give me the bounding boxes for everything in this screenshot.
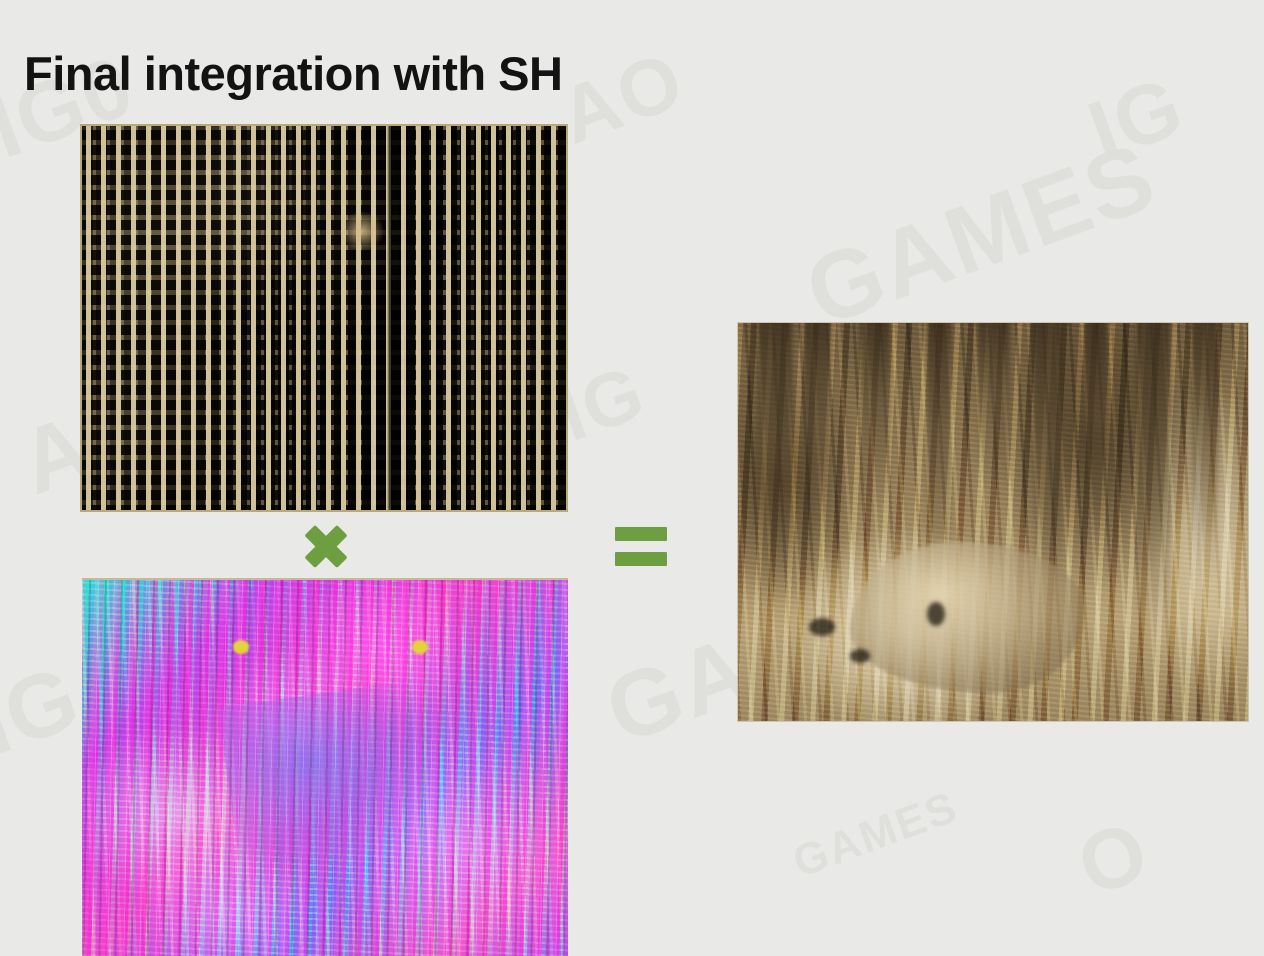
watermark-text: AO <box>548 34 696 163</box>
figure-sh-probe-grid <box>80 124 568 512</box>
equals-bar-top <box>615 527 667 541</box>
figure-final-render <box>737 322 1249 722</box>
figure-normal-map <box>82 578 568 956</box>
watermark-text: IG <box>0 646 94 777</box>
equals-icon <box>615 524 671 570</box>
cave-boulder <box>850 542 1085 693</box>
stalactite <box>804 322 830 550</box>
stalactite <box>1085 322 1107 538</box>
stalactite <box>758 322 792 598</box>
stalactite <box>1192 322 1218 582</box>
cave-hole <box>850 649 870 663</box>
equals-bar-bottom <box>615 552 667 566</box>
normal-map-highlight-a <box>233 640 249 654</box>
watermark-text: IG <box>1076 57 1196 180</box>
watermark-text: GAMES <box>787 782 965 888</box>
stalactite <box>1136 322 1170 637</box>
probe-grid-seam <box>387 126 393 510</box>
stalactite <box>860 322 890 510</box>
slide: IG0 AO IG GAMES AO IG IG GAMES GAMES O F… <box>0 0 1264 956</box>
watermark-text: O <box>1065 801 1161 915</box>
slide-title: Final integration with SH <box>24 47 562 101</box>
normal-map-streaks <box>82 580 568 956</box>
cave-hole <box>809 618 835 636</box>
stalactite <box>927 322 951 574</box>
multiply-icon <box>299 519 353 573</box>
stalactite <box>978 322 1010 486</box>
cave-hole <box>927 602 945 626</box>
probe-grid-hotspot <box>339 210 385 252</box>
watermark-text: GAMES <box>792 121 1170 348</box>
